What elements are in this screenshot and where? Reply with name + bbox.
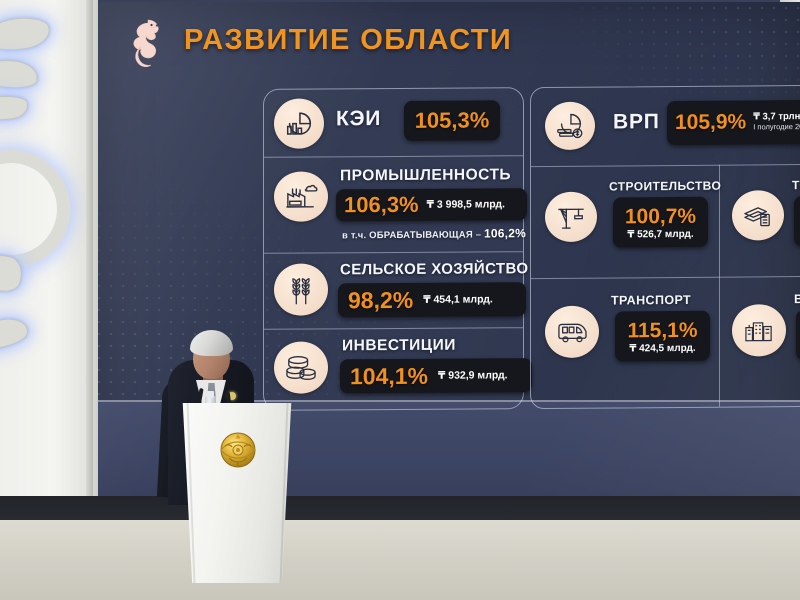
left-indicator-panel: КЭИ 105,3% ПРОМЫШЛЕННОСТЬ 106,3% ₸ 3 998… <box>263 87 524 411</box>
indicator-row-industry[interactable]: ПРОМЫШЛЕННОСТЬ 106,3% ₸ 3 998,5 млрд. в … <box>264 156 523 254</box>
indicator-label-agriculture: СЕЛЬСКОЕ ХОЗЯЙСТВО <box>340 260 528 278</box>
amount-value: ₸ 454,1 млрд. <box>423 293 493 305</box>
percent-value: 115,1% <box>627 318 697 343</box>
crane-icon <box>545 192 597 242</box>
indicator-value-transport: 115,1% ₸ 424,5 млрд. <box>615 311 710 362</box>
subnote-value: 106,2% <box>484 226 526 240</box>
percent-value: 105,9% <box>675 110 746 135</box>
indicator-row-agriculture[interactable]: СЕЛЬСКОЕ ХОЗЯЙСТВО 98,2% ₸ 454,1 млрд. <box>264 252 523 330</box>
indicator-value-agriculture: 98,2% ₸ 454,1 млрд. <box>338 282 526 317</box>
amount-value: ₸ 526,7 млрд. <box>627 228 693 240</box>
pie-chart-money-icon <box>545 102 595 150</box>
percent-value: 104,1% <box>350 362 428 389</box>
subnote-prefix: в т.ч. ОБРАБАТЫВАЮЩАЯ – <box>342 229 484 241</box>
amount-value: ₸ 932,9 млрд. <box>438 369 508 381</box>
indicator-row-trade[interactable]: ТОРГ 10 ₸ 5 <box>720 164 800 277</box>
indicator-row-construction[interactable]: СТРОИТЕЛЬСТВО 100,7% ₸ 526,7 млрд. <box>531 165 719 278</box>
indicator-value-construction: 100,7% ₸ 526,7 млрд. <box>613 197 708 248</box>
water-bottle-cap <box>207 391 214 398</box>
indicator-value-grp: 105,9% ₸ 3,7 трлн. I полугодие 2025 г. <box>667 100 800 145</box>
indicator-label-industry: ПРОМЫШЛЕННОСТЬ <box>340 166 511 185</box>
percent-value: 106,3% <box>344 192 419 218</box>
bus-icon <box>545 306 599 358</box>
pie-chart-bars-icon <box>274 98 324 148</box>
indicator-label-transport: ТРАНСПОРТ <box>611 293 691 308</box>
indicator-value-housing: 1 4 <box>796 309 800 360</box>
percent-value: 105,3% <box>415 107 490 133</box>
percent-value: 98,2% <box>348 286 413 313</box>
indicator-row-grp[interactable]: ВРП 105,9% ₸ 3,7 трлн. I полугодие 2025 … <box>531 86 800 166</box>
indicator-label-investments: ИНВЕСТИЦИИ <box>342 337 456 356</box>
wheat-ears-icon <box>274 263 328 315</box>
indicator-label-grp: ВРП <box>613 110 660 134</box>
indicator-label-construction: СТРОИТЕЛЬСТВО <box>609 179 721 194</box>
indicator-label-trade: ТОРГ <box>792 178 800 192</box>
page-title: РАЗВИТИЕ ОБЛАСТИ <box>184 24 512 57</box>
amount-value: ₸ 3 998,5 млрд. <box>427 198 505 210</box>
indicator-value-industry: 106,3% ₸ 3 998,5 млрд. <box>336 188 527 221</box>
floor <box>0 520 800 600</box>
amount-value: ₸ 424,5 млрд. <box>629 342 695 354</box>
indicator-value-kei: 105,3% <box>404 100 500 141</box>
percent-value: 100,7% <box>625 204 696 229</box>
indicator-row-housing[interactable]: ВВО 1 4 <box>720 276 800 397</box>
indicator-row-investments[interactable]: ИНВЕСТИЦИИ 104,1% ₸ 932,9 млрд. <box>264 328 523 408</box>
snow-leopard-emblem-icon <box>118 14 170 72</box>
photo-scene: РАЗВИТИЕ ОБЛАСТИ КЭИ 105,3% <box>0 0 800 600</box>
indicator-label-kei: КЭИ <box>336 107 381 131</box>
period-value: I полугодие 2025 г. <box>753 123 800 132</box>
indicator-row-kei[interactable]: КЭИ 105,3% <box>264 88 523 158</box>
indicator-value-investments: 104,1% ₸ 932,9 млрд. <box>340 358 532 393</box>
factory-icon <box>274 171 328 221</box>
indicator-value-trade: 10 ₸ 5 <box>794 195 800 246</box>
banknotes-icon <box>732 190 784 240</box>
buildings-icon <box>732 304 786 356</box>
coin-stacks-icon <box>274 341 328 393</box>
kazakhstan-state-emblem-icon <box>215 428 261 472</box>
indicator-subnote-industry: в т.ч. ОБРАБАТЫВАЮЩАЯ – 106,2% <box>342 226 526 241</box>
indicator-label-housing: ВВО <box>794 292 800 306</box>
right-indicator-panel: ВРП 105,9% ₸ 3,7 трлн. I полугодие 2025 … <box>530 85 800 409</box>
indicator-row-transport[interactable]: ТРАНСПОРТ 115,1% ₸ 424,5 млрд. <box>531 277 719 398</box>
